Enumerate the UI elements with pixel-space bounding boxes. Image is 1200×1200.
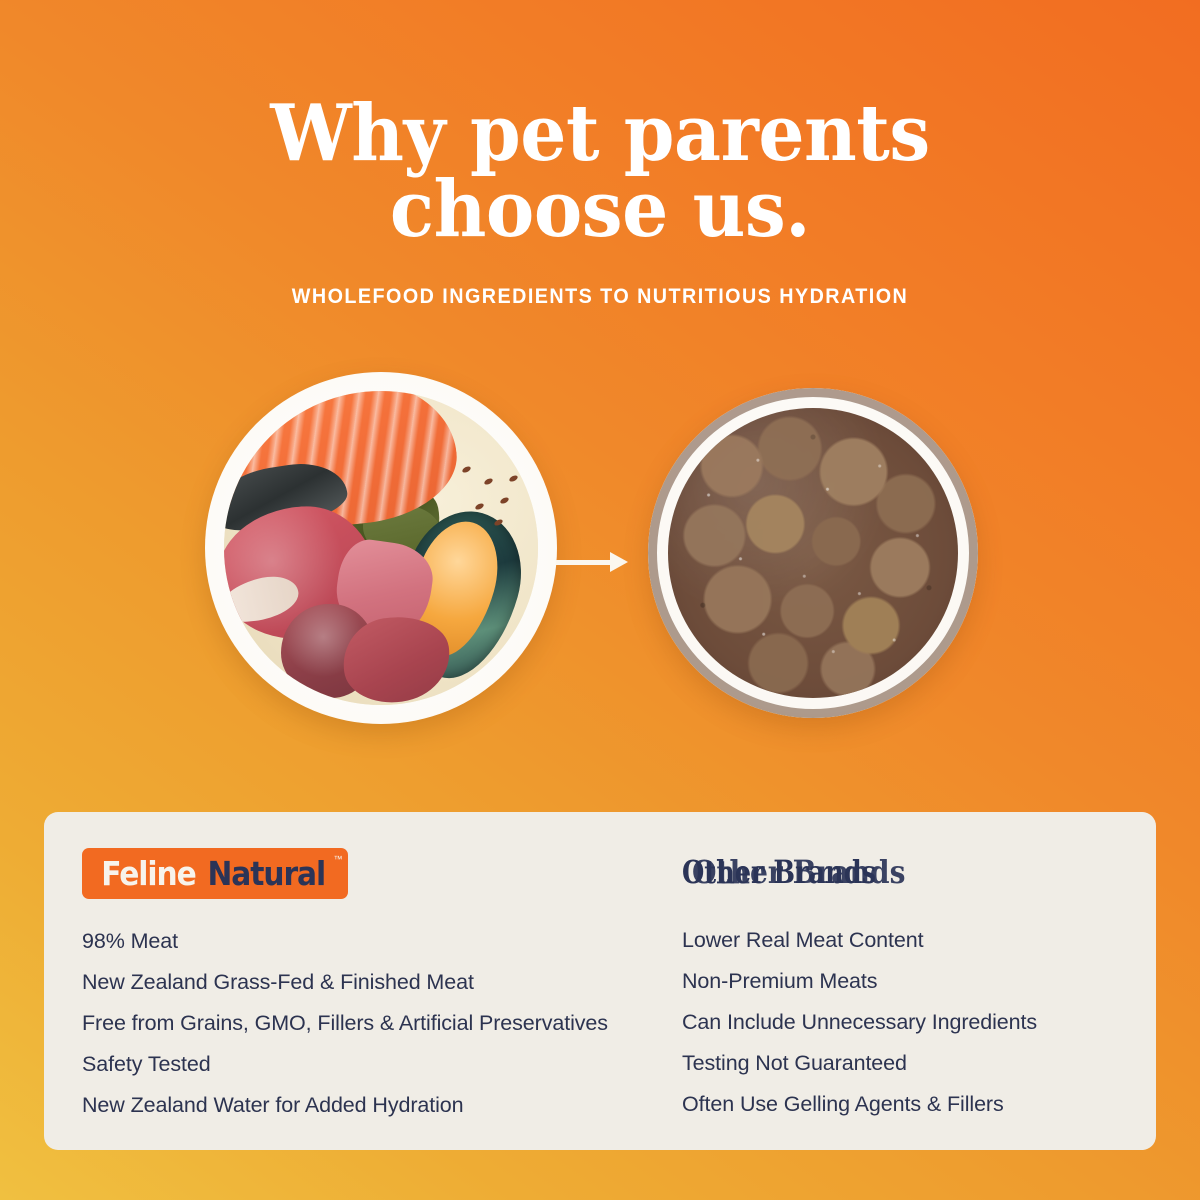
list-item: Lower Real Meat Content: [682, 930, 1156, 952]
raw-ingredients-bowl-image: [205, 372, 557, 724]
other-brands-heading: Other Brands Other Brands: [682, 848, 1156, 902]
list-item: Testing Not Guaranteed: [682, 1053, 1156, 1075]
comparison-card: FelineNatural ™ 98% Meat New Zealand Gra…: [44, 812, 1156, 1150]
list-item: Free from Grains, GMO, Fillers & Artific…: [82, 1013, 669, 1035]
promotional-banner: Why pet parents choose us. WHOLEFOOD ING…: [0, 0, 1200, 1200]
subheading: WHOLEFOOD INGREDIENTS TO NUTRITIOUS HYDR…: [36, 285, 1164, 309]
competitor-feature-list: Lower Real Meat Content Non-Premium Meat…: [682, 930, 1156, 1116]
comparison-columns: FelineNatural ™ 98% Meat New Zealand Gra…: [44, 812, 1156, 1150]
header-block: Why pet parents choose us. WHOLEFOOD ING…: [0, 96, 1200, 309]
arrow-head: [610, 552, 628, 572]
arrow-shaft: [556, 560, 612, 565]
brand-feature-list: 98% Meat New Zealand Grass-Fed & Finishe…: [82, 931, 669, 1117]
logo-word-natural: Natural: [207, 857, 325, 890]
brand-column: FelineNatural ™ 98% Meat New Zealand Gra…: [44, 812, 669, 1150]
list-item: Safety Tested: [82, 1054, 669, 1076]
other-brands-heading-layer-2: Other Brands: [692, 852, 905, 894]
headline-line-2: choose us.: [42, 172, 1158, 248]
page-title: Why pet parents choose us.: [42, 96, 1158, 249]
list-item: 98% Meat: [82, 931, 669, 953]
broth-rim: [648, 388, 978, 718]
logo-word-feline: Feline: [101, 857, 195, 890]
list-item: New Zealand Grass-Fed & Finished Meat: [82, 972, 669, 994]
right-arrow-icon: [556, 552, 628, 572]
list-item: New Zealand Water for Added Hydration: [82, 1095, 669, 1117]
bowls-comparison-visual: [0, 370, 1200, 740]
competitor-column: Other Brands Other Brands Lower Real Mea…: [669, 812, 1156, 1150]
list-item: Often Use Gelling Agents & Fillers: [682, 1094, 1156, 1116]
list-item: Non-Premium Meats: [682, 971, 1156, 993]
bowl-interior: [224, 391, 537, 704]
feline-natural-logo: FelineNatural ™: [82, 848, 348, 899]
list-item: Can Include Unnecessary Ingredients: [682, 1012, 1156, 1034]
prepared-wet-food-bowl-image: [648, 388, 978, 718]
trademark-symbol: ™: [334, 855, 343, 864]
